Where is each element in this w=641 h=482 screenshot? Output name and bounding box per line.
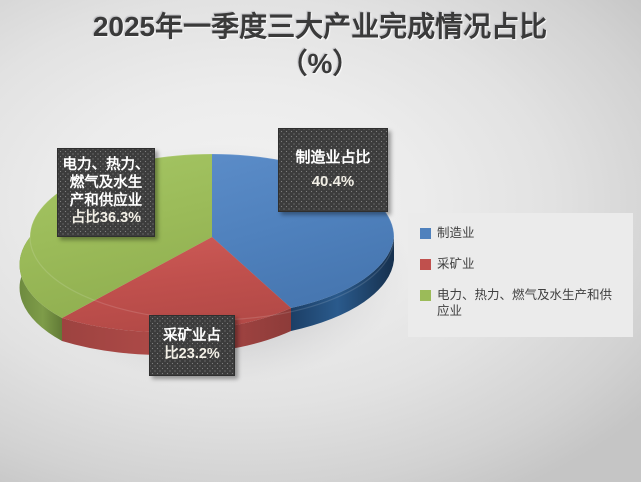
- data-label-power-percent: 占比36.3%: [71, 210, 141, 228]
- data-label-manufacturing-percent: 40.4%: [312, 173, 355, 191]
- legend-label-power: 电力、热力、燃气及水生产和供应业: [437, 287, 623, 319]
- legend-swatch-icon-mining: [420, 259, 431, 270]
- data-label-manufacturing[interactable]: 制造业占比 40.4%: [278, 128, 388, 212]
- data-label-power-line-3: 产和供应业: [70, 193, 143, 211]
- legend-label-manufacturing: 制造业: [437, 225, 475, 241]
- chart-title-line-2: （%）: [50, 45, 590, 82]
- chart-title: 2025年一季度三大产业完成情况占比 （%）: [50, 8, 590, 82]
- data-label-mining-percent: 比23.2%: [164, 346, 220, 364]
- chart-legend: 制造业 采矿业 电力、热力、燃气及水生产和供应业: [408, 213, 633, 337]
- legend-item-power[interactable]: 电力、热力、燃气及水生产和供应业: [420, 287, 623, 319]
- data-label-power[interactable]: 电力、热力、 燃气及水生 产和供应业 占比36.3%: [57, 148, 155, 237]
- legend-swatch-icon-power: [420, 290, 431, 301]
- data-label-mining-line-1: 采矿业占: [163, 328, 221, 346]
- legend-label-mining: 采矿业: [437, 256, 475, 272]
- legend-swatch-icon-manufacturing: [420, 228, 431, 239]
- data-label-power-line-1: 电力、热力、: [63, 157, 150, 175]
- pie-chart-figure: 2025年一季度三大产业完成情况占比 （%）: [0, 0, 641, 482]
- data-label-manufacturing-line-1: 制造业占比: [295, 149, 370, 167]
- legend-item-mining[interactable]: 采矿业: [420, 256, 623, 272]
- legend-item-manufacturing[interactable]: 制造业: [420, 225, 623, 241]
- data-label-power-line-2: 燃气及水生: [70, 175, 143, 193]
- data-label-mining[interactable]: 采矿业占 比23.2%: [149, 315, 235, 376]
- chart-title-line-1: 2025年一季度三大产业完成情况占比: [50, 8, 590, 45]
